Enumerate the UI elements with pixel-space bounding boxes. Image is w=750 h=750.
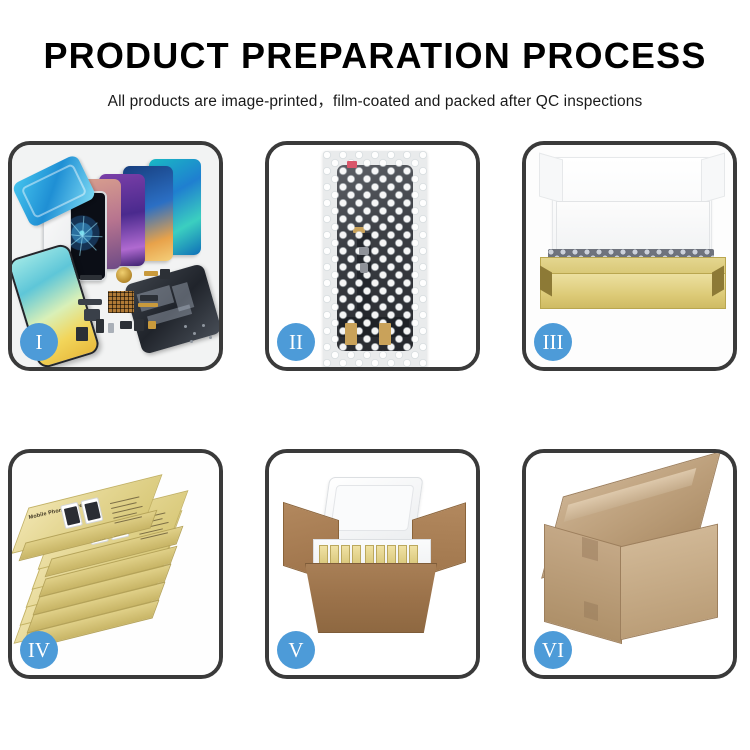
- product-preparation-infographic: PRODUCT PREPARATION PROCESS All products…: [0, 0, 750, 750]
- spare-parts-cluster: [74, 261, 219, 357]
- process-step-panel-1[interactable]: I: [8, 141, 223, 371]
- sealed-shipping-carton: [544, 477, 724, 647]
- gold-retail-box-open: [540, 257, 724, 309]
- page-title: PRODUCT PREPARATION PROCESS: [0, 38, 750, 74]
- step-badge-4: IV: [20, 631, 58, 669]
- header: PRODUCT PREPARATION PROCESS All products…: [0, 0, 750, 111]
- step-badge-3: III: [534, 323, 572, 361]
- process-step-panel-5[interactable]: V: [265, 449, 480, 679]
- process-step-grid: I II: [8, 141, 745, 681]
- step-badge-6: VI: [534, 631, 572, 669]
- screw-set: [184, 323, 218, 345]
- step-badge-5: V: [277, 631, 315, 669]
- process-step-panel-3[interactable]: III: [522, 141, 737, 371]
- bubble-wrap-package: [323, 151, 427, 367]
- process-step-panel-6[interactable]: VI: [522, 449, 737, 679]
- page-subtitle: All products are image-printed，film-coat…: [0, 89, 750, 111]
- process-step-panel-2[interactable]: II: [265, 141, 480, 371]
- red-label-tab: [347, 161, 357, 168]
- step-badge-2: II: [277, 323, 315, 361]
- process-step-panel-4[interactable]: Mobile Phone Spare Parts Mobile Phone Sp…: [8, 449, 223, 679]
- carton-body: [305, 563, 437, 633]
- step-badge-1: I: [20, 323, 58, 361]
